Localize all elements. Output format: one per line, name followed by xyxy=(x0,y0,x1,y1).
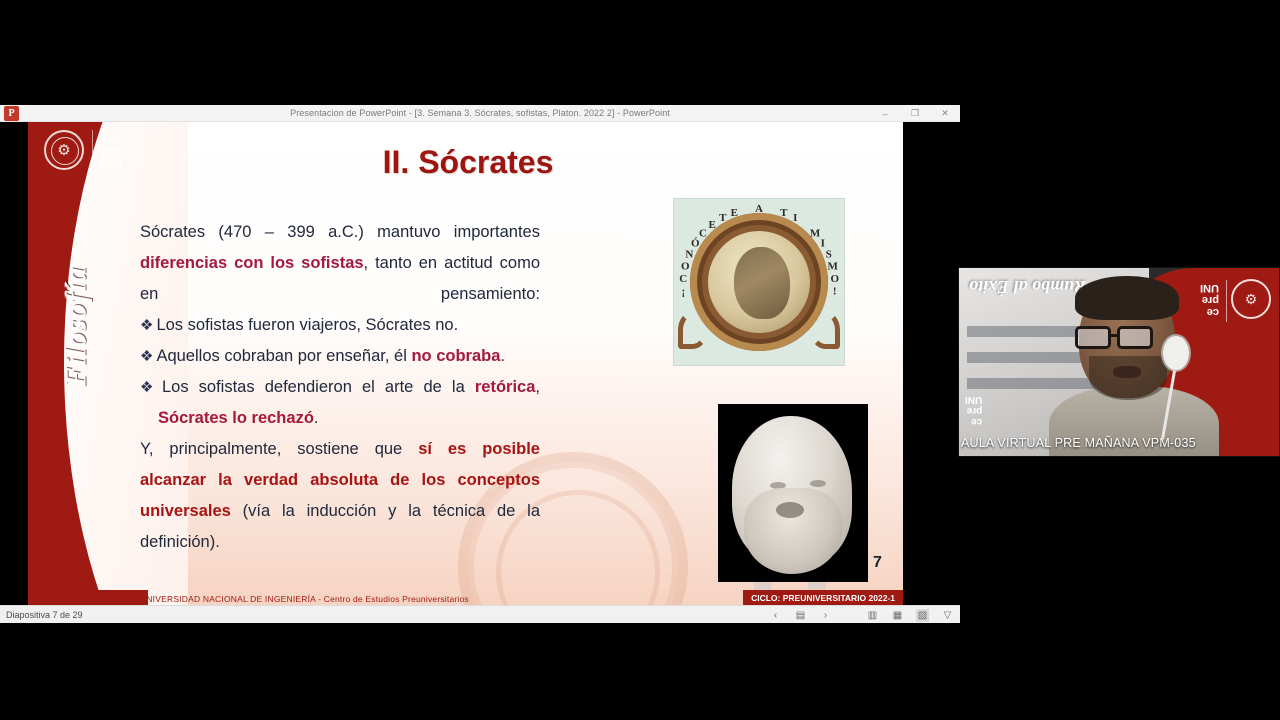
cepre-small-line-2: pre xyxy=(965,405,982,416)
coin-caption-letter: ! xyxy=(833,286,837,298)
paragraph-intro: Sócrates (470 – 399 a.C.) mantuvo import… xyxy=(140,217,540,310)
bullet-3-highlight-rechazo: Sócrates lo rechazó xyxy=(158,409,314,427)
bullet-3-text-c: . xyxy=(314,409,319,427)
coin-caption-letter: I xyxy=(793,213,797,225)
slide-body-text: Sócrates (470 – 399 a.C.) mantuvo import… xyxy=(140,217,540,558)
subject-label-filosofia: Filosofía xyxy=(59,267,93,388)
coin-caption-letter: C xyxy=(699,228,707,240)
slide-stage: E U ⚙ ce pre UNI Filosofía xyxy=(0,122,960,605)
bullet-2-text-b: . xyxy=(500,347,505,365)
coin-caption-letter: E xyxy=(731,207,738,219)
screen: P Presentacion de PowerPoint - [3. Seman… xyxy=(0,0,1280,720)
normal-view-icon[interactable]: ▥ xyxy=(866,609,879,622)
coin-caption-letter: ¡ xyxy=(681,286,685,298)
powerpoint-window: P Presentacion de PowerPoint - [3. Seman… xyxy=(0,105,960,623)
webcam-video-tile[interactable]: Rumbo al Éxito ce pre UNI ce pre UNI ⚙ xyxy=(958,267,1280,457)
headphone-earcup-icon xyxy=(1163,336,1189,370)
bullet-item-1: Los sofistas fueron viajeros, Sócrates n… xyxy=(140,310,540,341)
coin-caption-letter: S xyxy=(826,249,832,261)
glasses-lens-left xyxy=(1075,326,1111,349)
participant-mouth xyxy=(1113,366,1141,378)
logo-divider xyxy=(92,130,93,170)
bust-mouth xyxy=(776,502,804,518)
reading-view-icon[interactable]: ▧ xyxy=(916,609,929,622)
cepre-uni-logo: ⚙ ce pre UNI xyxy=(44,130,123,170)
coin-caption-letter: N xyxy=(685,249,693,261)
maximize-restore-button[interactable]: ❐ xyxy=(900,105,930,122)
webcam-logo-divider xyxy=(1226,280,1227,322)
coin-caption-letter: I xyxy=(821,238,825,250)
socrates-profile-engraving xyxy=(734,247,790,319)
participant-hair xyxy=(1075,276,1179,320)
window-title: Presentacion de PowerPoint - [3. Semana … xyxy=(0,108,960,118)
coin-face xyxy=(708,231,810,333)
bullet-item-3: Los sofistas defendieron el arte de la r… xyxy=(140,372,540,403)
bullet-2-text-a: Aquellos cobraban por enseñar, él xyxy=(156,347,411,365)
slide-canvas[interactable]: E U ⚙ ce pre UNI Filosofía xyxy=(28,122,903,605)
slide-title: II. Sócrates xyxy=(258,144,678,181)
close-button[interactable]: ✕ xyxy=(930,105,960,122)
slide-sorter-icon[interactable]: ▦ xyxy=(891,609,904,622)
cepre-small-line-3: UNI xyxy=(965,394,982,405)
bullet-3-text-b: , xyxy=(535,378,540,396)
coin-caption-letter: M xyxy=(828,261,838,273)
intro-highlight: diferencias con los sofistas xyxy=(140,254,364,272)
paragraph-conclusion: Y, principalmente, sostiene que sí es po… xyxy=(140,434,540,558)
bullet-2-highlight: no cobraba xyxy=(411,347,500,365)
bullet-3-highlight-retorica: retórica xyxy=(475,378,536,396)
next-slide-icon[interactable]: › xyxy=(819,609,832,622)
glasses-lens-right xyxy=(1117,326,1153,349)
participant-beard xyxy=(1089,356,1167,400)
footer-red-wedge xyxy=(28,590,148,605)
coin-caption-letter: T xyxy=(719,213,726,225)
coin-caption-letter: T xyxy=(780,207,787,219)
bullet-1-text: Los sofistas fueron viajeros, Sócrates n… xyxy=(156,316,458,334)
slide-page-number: 7 xyxy=(873,554,882,572)
bust-eye-right xyxy=(810,480,826,487)
minimize-button[interactable]: – xyxy=(870,105,900,122)
uni-seal-icon: ⚙ xyxy=(44,130,84,170)
coin-ring xyxy=(690,213,828,351)
webcam-participant-label: AULA VIRTUAL PRE MAÑANA VPM-035 xyxy=(961,436,1196,450)
powerpoint-statusbar: Diapositiva 7 de 29 ‹ ▤ › ▥ ▦ ▧ ▽ xyxy=(0,605,960,623)
webcam-cepre-wordmark-small: ce pre UNI xyxy=(965,394,982,427)
coin-caption-letter: O xyxy=(830,273,839,285)
slide-footer: UNIVERSIDAD NACIONAL DE INGENIERÍA - Cen… xyxy=(28,590,903,605)
coin-caption-letter: M xyxy=(810,228,820,240)
bullet-item-2: Aquellos cobraban por enseñar, él no cob… xyxy=(140,341,540,372)
coin-caption-letter: E xyxy=(709,219,716,231)
seal-glyph: ⚙ xyxy=(57,143,70,158)
notes-icon[interactable]: ▤ xyxy=(794,609,807,622)
webcam-uni-seal-icon: ⚙ xyxy=(1231,279,1271,319)
previous-slide-icon[interactable]: ‹ xyxy=(769,609,782,622)
cepre-line-3: UNI xyxy=(101,156,123,168)
socrates-coin-image: ¡CONÓCETE A TI MISMO! xyxy=(673,198,845,366)
cepre-small-line-1: ce xyxy=(965,416,982,427)
bullet-3-text-a: Los sofistas defendieron el arte de la xyxy=(162,378,475,396)
slide-counter: Diapositiva 7 de 29 xyxy=(6,610,83,620)
glasses-bridge xyxy=(1111,334,1119,337)
intro-part-1: Sócrates (470 – 399 a.C.) mantuvo import… xyxy=(140,223,540,241)
conclusion-part-1: Y, principalmente, sostiene que xyxy=(140,440,418,458)
footer-cycle-badge: CICLO: PREUNIVERSITARIO 2022-1 xyxy=(743,590,903,605)
cepre-wordmark: ce pre UNI xyxy=(101,132,123,168)
window-titlebar: P Presentacion de PowerPoint - [3. Seman… xyxy=(0,105,960,122)
bullet-item-3-cont: Sócrates lo rechazó. xyxy=(140,403,540,434)
statusbar-icons: ‹ ▤ › ▥ ▦ ▧ ▽ xyxy=(769,606,954,624)
coin-caption-letter: C xyxy=(679,273,687,285)
footer-institution: UNIVERSIDAD NACIONAL DE INGENIERÍA - Cen… xyxy=(140,594,469,604)
socrates-bust-image xyxy=(718,404,868,582)
slideshow-icon[interactable]: ▽ xyxy=(941,609,954,622)
webcam-participant xyxy=(1055,282,1205,457)
coin-caption-letter: O xyxy=(681,261,690,273)
bust-beard xyxy=(744,488,842,574)
coin-caption-letter: A xyxy=(755,203,763,215)
coin-scroll-right xyxy=(810,311,840,349)
coin-scroll-left xyxy=(678,311,708,349)
